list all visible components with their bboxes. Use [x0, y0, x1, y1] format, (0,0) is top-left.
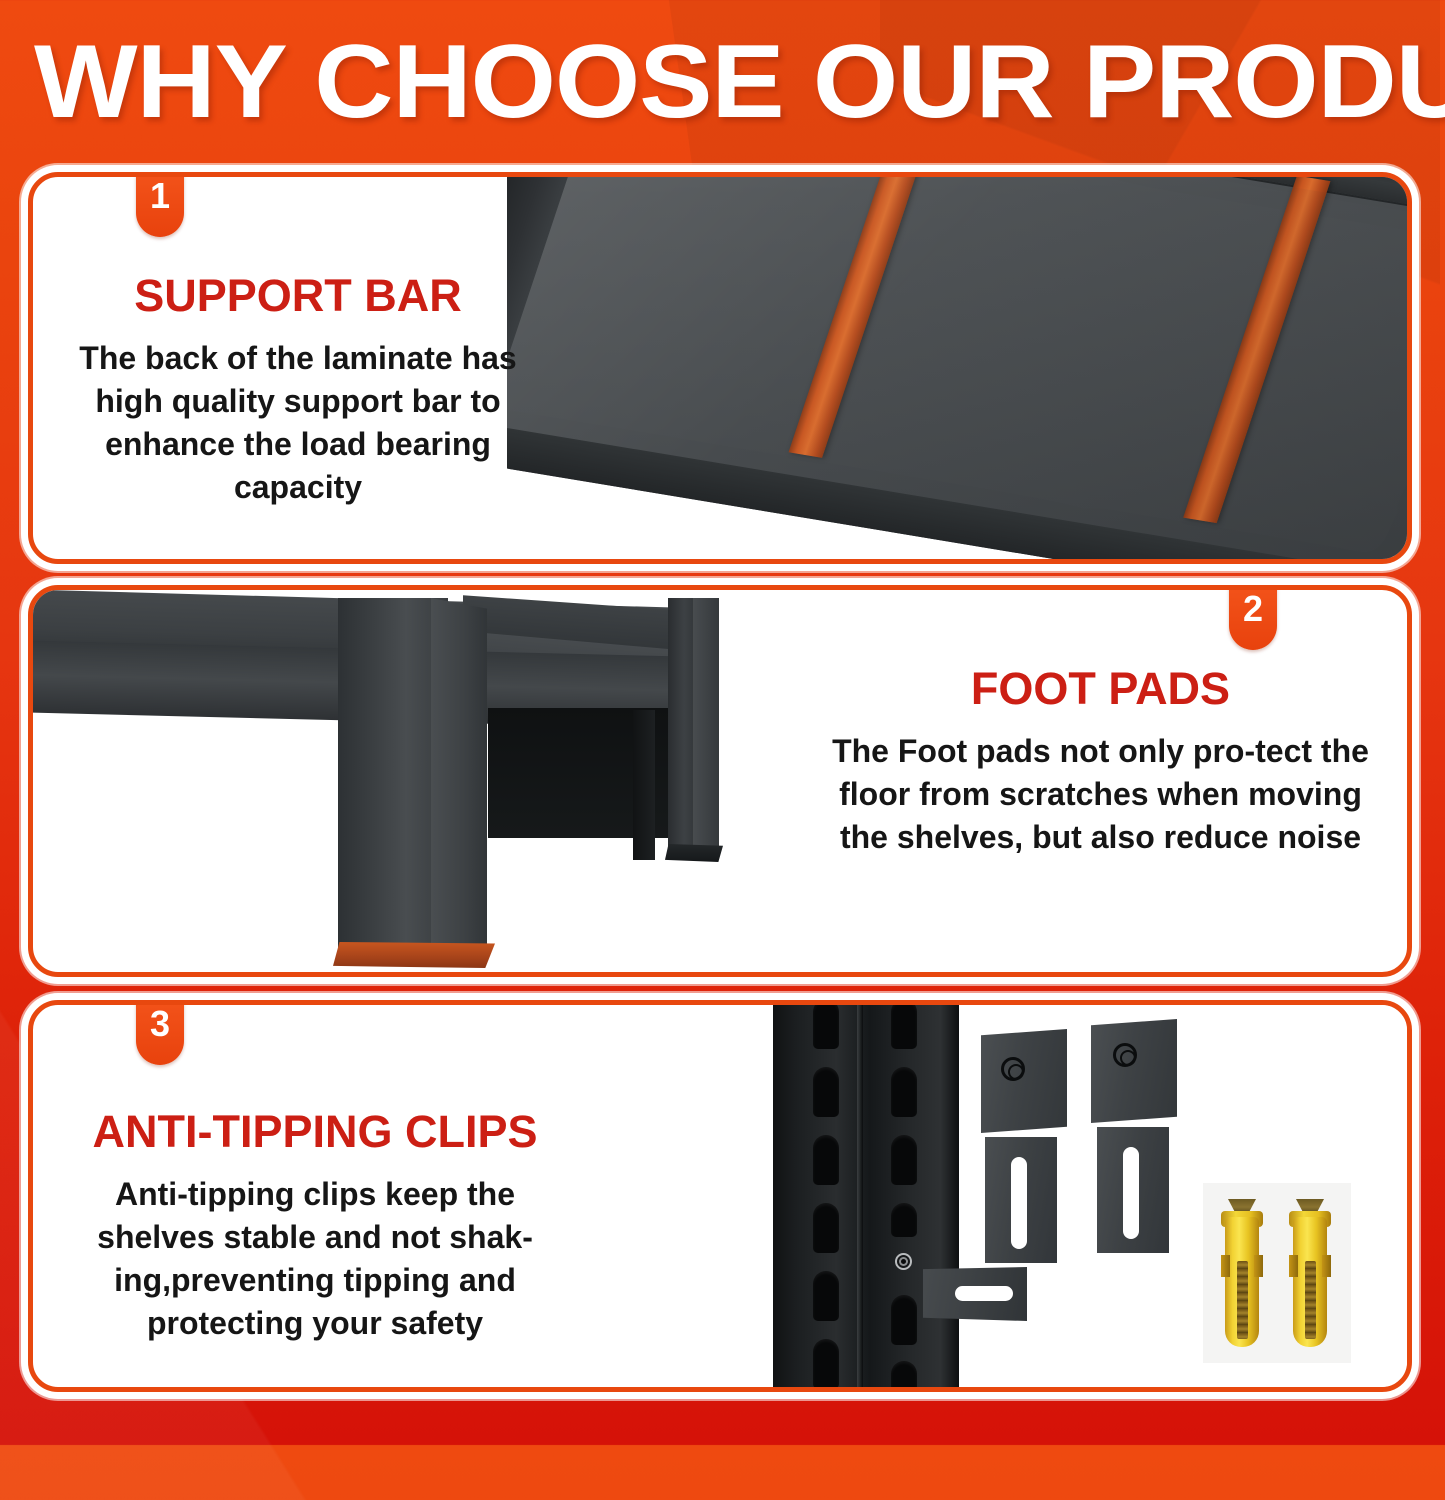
rear-leg-side-face — [693, 598, 719, 852]
clip-2-screw-hole-icon — [1113, 1043, 1137, 1067]
post-screw-hole-icon — [895, 1253, 912, 1270]
clip-1-screw-hole-icon — [1001, 1057, 1025, 1081]
panel-2-number-badge: 2 — [1229, 585, 1277, 650]
shelf-board — [507, 177, 1407, 559]
rear-leg-shadow — [633, 710, 655, 860]
clip-1-upper-plate — [981, 1029, 1067, 1133]
anchor-2-screw-shaft — [1305, 1261, 1316, 1339]
feature-panel-support-bar: SUPPORT BAR The back of the laminate has… — [28, 172, 1412, 564]
post-slot-icon — [891, 1295, 917, 1345]
post-slot-icon — [813, 1339, 839, 1387]
front-leg-foot-pad — [333, 942, 495, 968]
anti-tipping-clips-illustration — [773, 1005, 1412, 1387]
slotted-shelf-post — [773, 1005, 959, 1387]
panel-3-heading: ANTI-TIPPING CLIPS — [55, 1105, 575, 1159]
rear-leg-foot-pad — [665, 844, 723, 862]
post-slot-icon — [813, 1271, 839, 1321]
anchor-1-screw-shaft — [1237, 1261, 1248, 1339]
panel-2-body: The Foot pads not only pro-tect the floo… — [828, 730, 1373, 859]
panel-1-text: SUPPORT BAR The back of the laminate has… — [63, 269, 533, 509]
post-slot-icon — [813, 1067, 839, 1117]
post-slot-icon — [891, 1067, 917, 1117]
clip-2-upper-plate — [1091, 1019, 1177, 1123]
post-slot-icon — [813, 1203, 839, 1253]
support-bar-illustration — [507, 177, 1407, 559]
post-slot-icon — [891, 1005, 917, 1049]
panel-3-text: ANTI-TIPPING CLIPS Anti-tipping clips ke… — [55, 1105, 575, 1345]
board-sheen — [507, 177, 1407, 559]
post-slot-icon — [813, 1005, 839, 1049]
anchor-2-fin-left — [1289, 1255, 1298, 1277]
anchor-2-fin-right — [1322, 1255, 1331, 1277]
post-slot-icon — [891, 1361, 917, 1387]
panel-3-body: Anti-tipping clips keep the shelves stab… — [55, 1173, 575, 1345]
feature-panel-foot-pads: FOOT PADS The Foot pads not only pro-tec… — [28, 585, 1412, 977]
anchor-1-fin-left — [1221, 1255, 1230, 1277]
post-slot-icon — [813, 1135, 839, 1185]
attached-clip-slot — [955, 1286, 1013, 1301]
post-slot-icon — [891, 1135, 917, 1185]
wall-anchor-1 — [1221, 1199, 1263, 1347]
panel-2-text: FOOT PADS The Foot pads not only pro-tec… — [828, 662, 1373, 859]
wall-anchor-2 — [1289, 1199, 1331, 1347]
post-center-groove — [857, 1005, 863, 1387]
wall-anchor-group — [1203, 1183, 1351, 1363]
front-leg-side-face — [431, 598, 487, 954]
panel-2-heading: FOOT PADS — [828, 662, 1373, 716]
panel-1-heading: SUPPORT BAR — [63, 269, 533, 323]
clip-2-adjust-slot — [1123, 1147, 1139, 1239]
panel-1-body: The back of the laminate has high qualit… — [63, 337, 533, 509]
anchor-1-fin-right — [1254, 1255, 1263, 1277]
post-slot-icon — [891, 1203, 917, 1237]
feature-panel-anti-tipping-clips: ANTI-TIPPING CLIPS Anti-tipping clips ke… — [28, 1000, 1412, 1392]
clip-1-adjust-slot — [1011, 1157, 1027, 1249]
foot-pad-illustration — [33, 590, 823, 972]
panel-3-number-badge: 3 — [136, 1000, 184, 1065]
page-title: WHY CHOOSE OUR PRODUCT — [34, 22, 1445, 142]
panel-1-number-badge: 1 — [136, 172, 184, 237]
